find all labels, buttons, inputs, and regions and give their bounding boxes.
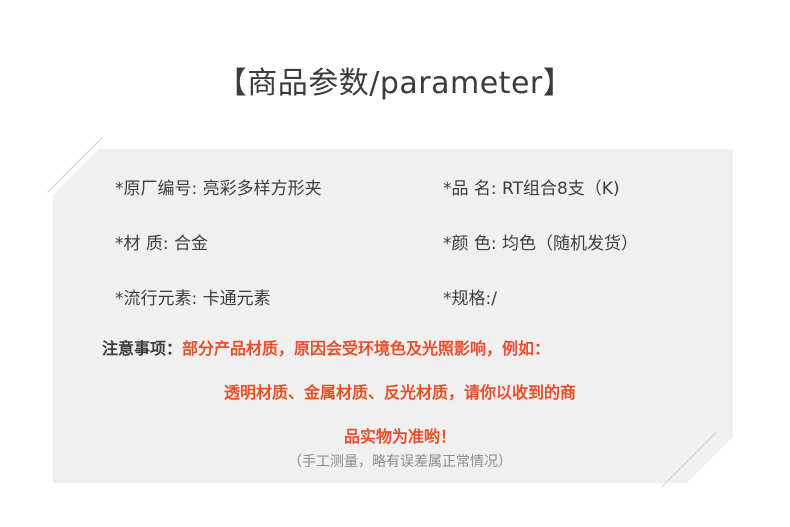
notice-line-1: 注意事项：部分产品材质，原因会受环境色及光照影响，例如： <box>53 338 733 360</box>
parameter-product-name: *品 名: RT组合8支（K) <box>443 176 620 202</box>
parameter-row: *原厂编号: 亮彩多样方形夹 *品 名: RT组合8支（K) <box>53 176 733 202</box>
measurement-disclaimer: （手工测量，略有误差属正常情况） <box>53 452 733 472</box>
parameter-factory-code: *原厂编号: 亮彩多样方形夹 <box>115 176 322 202</box>
parameter-trend-element: *流行元素: 卡通元素 <box>115 286 271 312</box>
parameter-row: *流行元素: 卡通元素 *规格:/ <box>53 286 733 312</box>
notice-text-1: 部分产品材质，原因会受环境色及光照影响，例如： <box>182 339 550 358</box>
notice-line-2: 透明材质、金属材质、反光材质，请你以收到的商 <box>53 382 733 404</box>
parameter-specification: *规格:/ <box>443 286 497 312</box>
parameter-row: *材 质: 合金 *颜 色: 均色（随机发货） <box>53 231 733 257</box>
parameter-material: *材 质: 合金 <box>115 231 208 257</box>
notice-label: 注意事项： <box>102 339 182 358</box>
notice-line-3: 品实物为准哟！ <box>53 426 733 448</box>
page-title: 【商品参数/parameter】 <box>0 58 790 102</box>
parameter-color: *颜 色: 均色（随机发货） <box>443 231 638 257</box>
